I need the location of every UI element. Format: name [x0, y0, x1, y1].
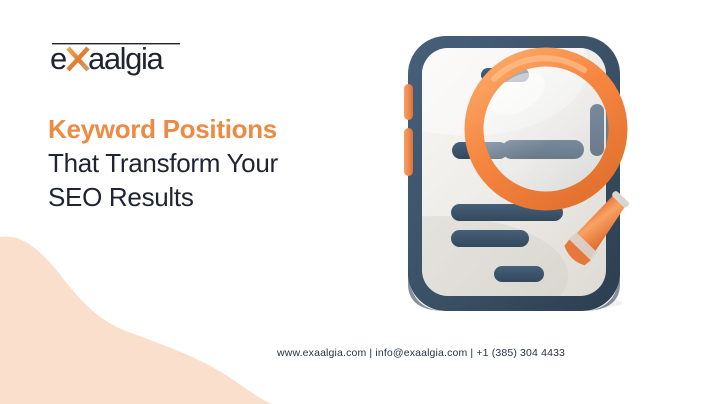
footer-contact: www.exaalgia.com | info@exaalgia.com | +… — [277, 346, 687, 360]
headline-line-3: SEO Results — [48, 180, 378, 214]
promotional-banner: e aalgia exaalgia Keyword Positions That… — [0, 0, 720, 404]
decorative-blob — [0, 229, 330, 404]
tablet-side-button-top — [404, 84, 413, 120]
footer-contact-text[interactable]: www.exaalgia.com | info@exaalgia.com | +… — [277, 346, 687, 360]
svg-text:e: e — [50, 41, 66, 76]
brand-logo[interactable]: e aalgia exaalgia — [48, 36, 198, 78]
headline-line-2: That Transform Your — [48, 146, 378, 180]
svg-text:aalgia: aalgia — [88, 41, 164, 76]
headline: Keyword Positions That Transform Your SE… — [48, 112, 378, 214]
tablet-side-button-bottom — [404, 128, 413, 176]
document-search-illustration — [398, 26, 698, 311]
headline-line-1: Keyword Positions — [48, 112, 378, 146]
